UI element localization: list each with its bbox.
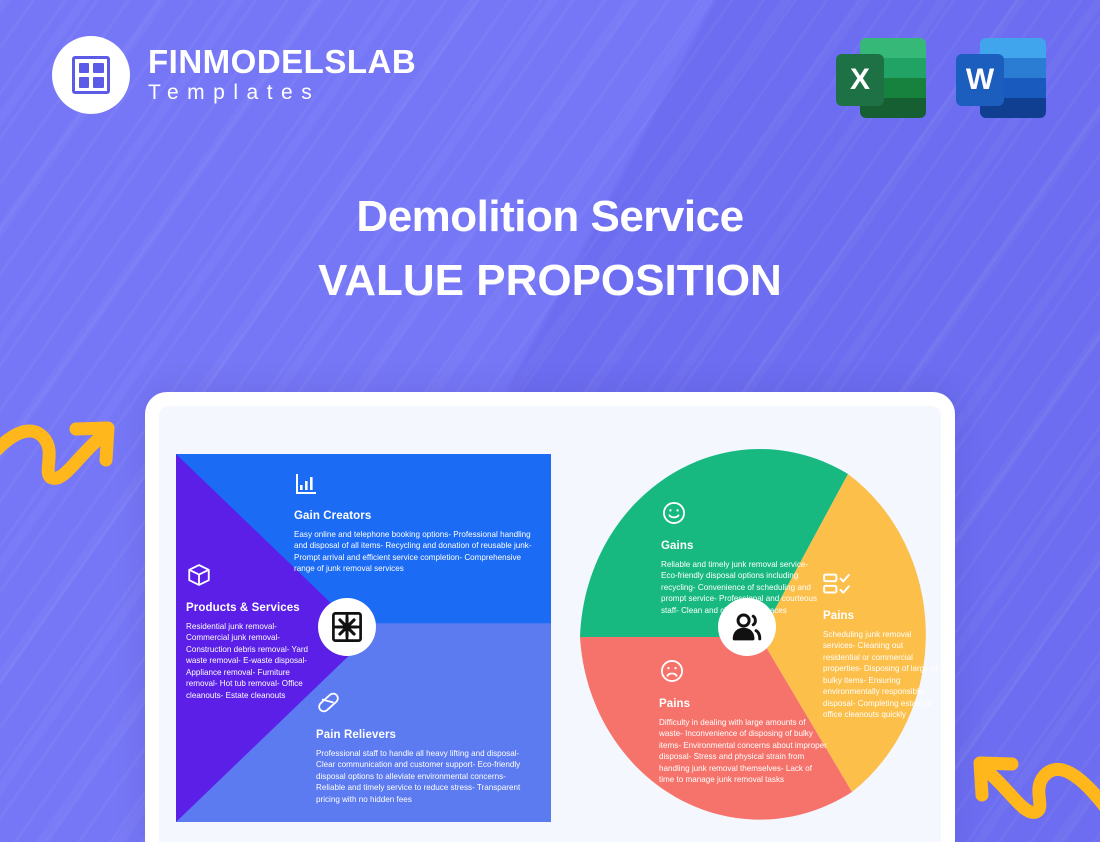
value-map-center-badge[interactable]: [318, 598, 376, 656]
bar-chart-icon: [294, 472, 532, 501]
brand-name: FINMODELSLAB: [148, 45, 416, 80]
panel-body: Scheduling junk removal services- Cleani…: [823, 629, 941, 721]
slice-label-customer-jobs[interactable]: Pains Scheduling junk removal services- …: [823, 572, 941, 721]
brand-logo[interactable]: FINMODELSLAB Templates: [52, 36, 416, 114]
word-icon[interactable]: W: [956, 32, 1048, 124]
panel-title: Pains: [823, 610, 941, 622]
panel-body: Easy online and telephone booking option…: [294, 529, 532, 575]
checklist-icon: [823, 572, 941, 601]
panel-body: Residential junk removal- Commercial jun…: [186, 621, 316, 701]
page-title: Demolition Service VALUE PROPOSITION: [0, 192, 1100, 306]
excel-badge: X: [836, 54, 884, 106]
customer-profile-center-badge[interactable]: [718, 598, 776, 656]
device-frame: Gain Creators Easy online and telephone …: [145, 392, 955, 842]
panel-title: Pains: [659, 698, 829, 710]
pill-icon: [316, 690, 534, 720]
panel-gain-creators[interactable]: Gain Creators Easy online and telephone …: [294, 472, 532, 575]
slide-canvas: Gain Creators Easy online and telephone …: [159, 406, 941, 842]
slice-label-pains[interactable]: Pains Difficulty in dealing with large a…: [659, 658, 829, 786]
brand-subtitle: Templates: [148, 81, 416, 105]
panel-title: Products & Services: [186, 602, 316, 614]
panel-body: Professional staff to handle all heavy l…: [316, 748, 534, 805]
panel-title: Pain Relievers: [316, 729, 534, 741]
poster-canvas: FINMODELSLAB Templates X W Demoli: [0, 0, 1100, 842]
title-line-1: Demolition Service: [0, 192, 1100, 242]
grid-icon: [72, 56, 110, 94]
sad-face-icon: [659, 658, 829, 689]
smiley-face-icon: [661, 500, 821, 531]
panel-title: Gains: [661, 540, 821, 552]
panel-products-services[interactable]: Products & Services Residential junk rem…: [186, 562, 316, 701]
excel-icon[interactable]: X: [836, 32, 928, 124]
brand-text: FINMODELSLAB Templates: [148, 45, 416, 106]
squiggle-arrow-up-right-icon: [0, 404, 130, 514]
word-badge: W: [956, 54, 1004, 106]
format-icons: X W: [836, 32, 1048, 124]
logo-circle: [52, 36, 130, 114]
panel-title: Gain Creators: [294, 510, 532, 522]
panel-pain-relievers[interactable]: Pain Relievers Professional staff to han…: [316, 690, 534, 805]
title-line-2: VALUE PROPOSITION: [0, 256, 1100, 306]
panel-body: Difficulty in dealing with large amounts…: [659, 717, 829, 786]
squiggle-arrow-down-left-icon: [960, 746, 1100, 842]
box-icon: [186, 562, 316, 593]
